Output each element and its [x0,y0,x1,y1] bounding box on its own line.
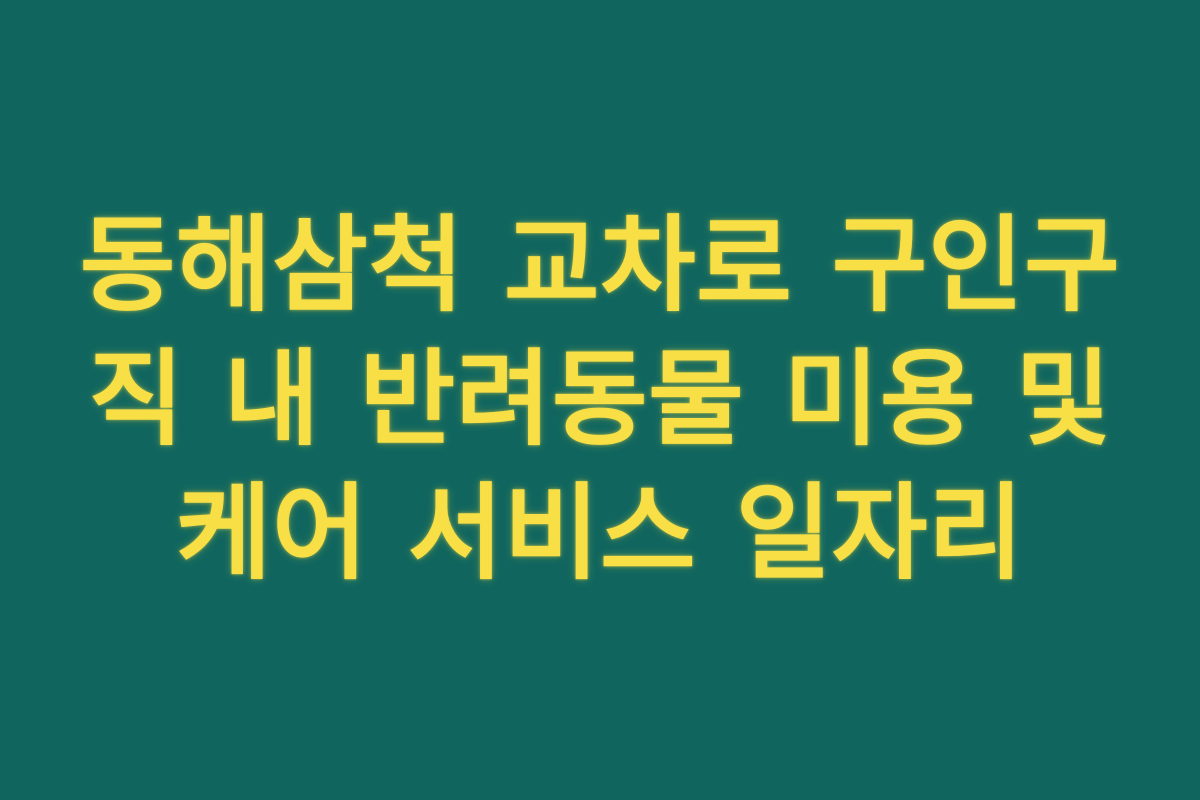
headline-line-3: 케어 서비스 일자리 [50,467,1150,601]
headline-text: 동해삼척 교차로 구인구 직 내 반려동물 미용 및 케어 서비스 일자리 [50,199,1150,601]
thumbnail-canvas: 동해삼척 교차로 구인구 직 내 반려동물 미용 및 케어 서비스 일자리 [0,0,1200,800]
headline-line-2: 직 내 반려동물 미용 및 [50,333,1150,467]
headline-line-1: 동해삼척 교차로 구인구 [50,199,1150,333]
